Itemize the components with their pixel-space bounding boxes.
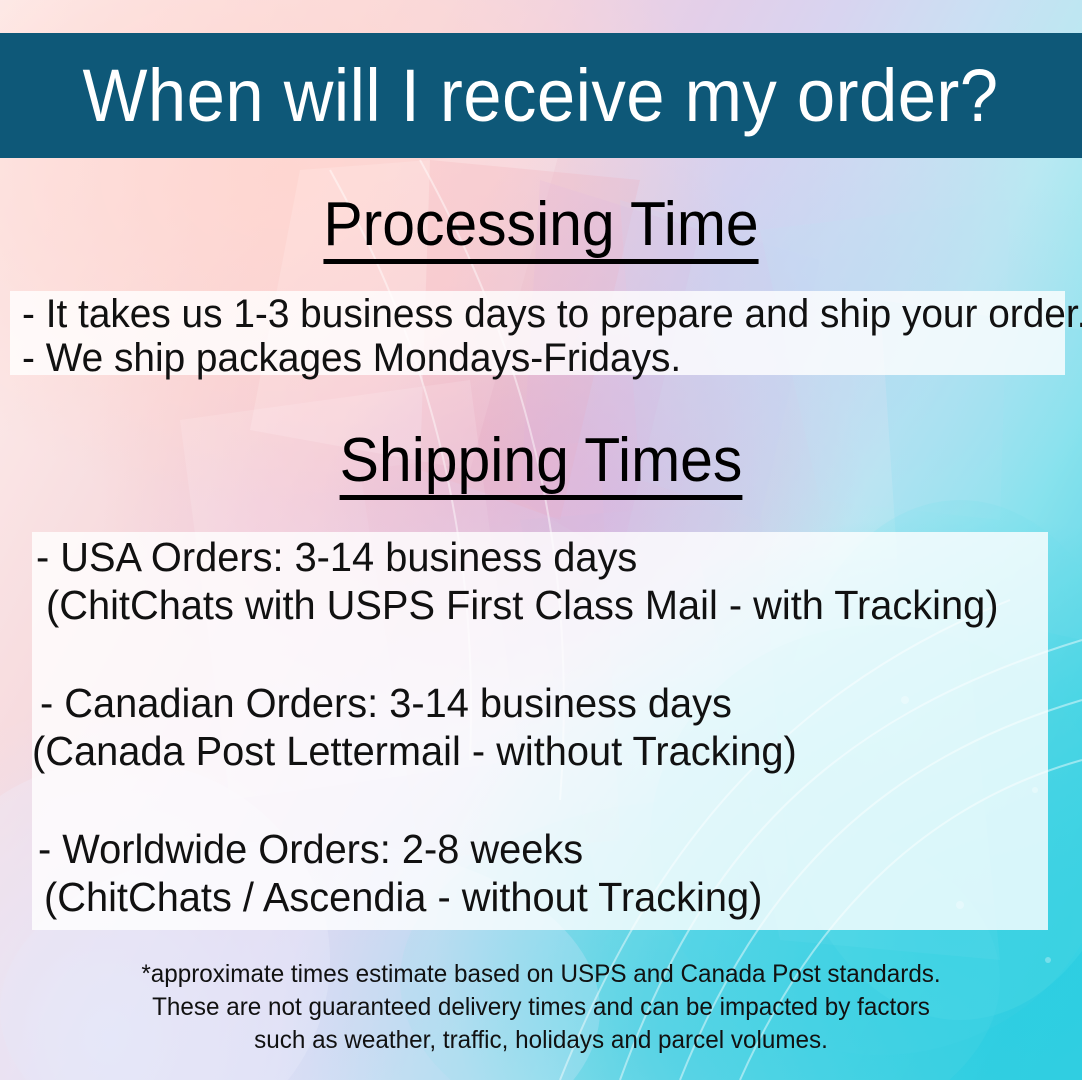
processing-time-line-1: - It takes us 1-3 business days to prepa…	[22, 294, 1082, 334]
page-title: When will I receive my order?	[83, 59, 999, 133]
shipping-entry-canada-region: - Canadian Orders: 3-14 business days	[40, 683, 732, 724]
header-banner: When will I receive my order?	[0, 33, 1082, 158]
footnote-line-2: These are not guaranteed delivery times …	[16, 991, 1066, 1024]
section-heading-processing-time: Processing Time	[27, 192, 1055, 264]
footnote-line-3: such as weather, traffic, holidays and p…	[16, 1024, 1066, 1057]
shipping-entry-canada-carrier: (Canada Post Lettermail - without Tracki…	[32, 731, 797, 772]
shipping-entry-usa-carrier: (ChitChats with USPS First Class Mail - …	[46, 585, 998, 626]
section-heading-shipping-times: Shipping Times	[27, 428, 1055, 500]
shipping-info-graphic: When will I receive my order? Processing…	[0, 0, 1082, 1080]
section-heading-processing-time-label: Processing Time	[323, 192, 758, 264]
footnote-disclaimer: *approximate times estimate based on USP…	[16, 958, 1066, 1057]
shipping-entry-worldwide-region: - Worldwide Orders: 2-8 weeks	[38, 829, 583, 870]
section-heading-shipping-times-label: Shipping Times	[340, 428, 743, 500]
shipping-entry-usa-region: - USA Orders: 3-14 business days	[36, 537, 637, 578]
shipping-entry-worldwide-carrier: (ChitChats / Ascendia - without Tracking…	[44, 877, 762, 918]
footnote-line-1: *approximate times estimate based on USP…	[16, 958, 1066, 991]
processing-time-line-2: - We ship packages Mondays-Fridays.	[22, 338, 681, 378]
